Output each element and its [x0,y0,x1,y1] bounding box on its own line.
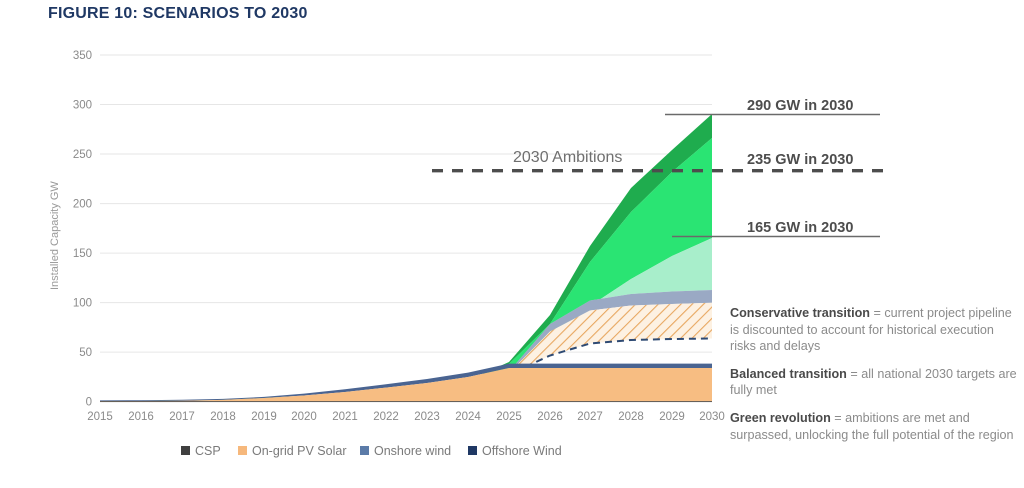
y-tick-250: 250 [73,149,92,161]
x-tick-2016: 2016 [128,411,154,423]
note-eq-conservative: = [870,306,884,320]
x-tick-2015: 2015 [87,411,113,423]
y-axis-ticks: 350 300 250 200 150 100 50 0 [73,50,92,409]
legend-label-csp: CSP [195,444,221,458]
x-tick-2021: 2021 [332,411,358,423]
x-tick-2027: 2027 [577,411,603,423]
y-tick-200: 200 [73,199,92,211]
legend-swatch-csp [181,446,190,455]
legend-swatch-on-grid-pv-solar [238,446,247,455]
area-balanced-transition [100,138,712,402]
y-tick-50: 50 [79,347,92,359]
legend-label-onshore-wind: Onshore wind [374,444,451,458]
note-term-green: Green revolution [730,411,831,425]
x-tick-2020: 2020 [291,411,317,423]
note-term-conservative: Conservative transition [730,306,870,320]
y-tick-100: 100 [73,298,92,310]
x-tick-2024: 2024 [455,411,481,423]
x-tick-2022: 2022 [373,411,399,423]
callout-green-revolution: 290 GW in 2030 [747,98,853,114]
legend-label-offshore-wind: Offshore Wind [482,444,562,458]
legend-swatch-offshore-wind [468,446,477,455]
note-term-balanced: Balanced transition [730,367,847,381]
x-tick-2030: 2030 [699,411,725,423]
x-tick-2018: 2018 [210,411,236,423]
legend-swatch-onshore-wind [360,446,369,455]
note-eq-green: = [831,411,845,425]
note-eq-balanced: = [847,367,861,381]
y-tick-350: 350 [73,50,92,62]
note-balanced-transition: Balanced transition = all national 2030 … [730,366,1022,399]
y-axis-title: Installed Capacity GW [49,181,61,290]
callout-balanced: 235 GW in 2030 [747,152,853,168]
x-tick-2028: 2028 [618,411,644,423]
y-tick-300: 300 [73,100,92,112]
note-conservative-transition: Conservative transition = current projec… [730,305,1022,355]
y-tick-0: 0 [86,397,92,409]
chart-legend: CSP On-grid PV Solar Onshore wind Offsho… [181,444,562,458]
callout-conservative: 165 GW in 2030 [747,220,853,236]
x-tick-2026: 2026 [537,411,563,423]
x-tick-2029: 2029 [659,411,685,423]
scenario-definitions: Conservative transition = current projec… [730,305,1022,443]
x-axis-ticks: 2015 2016 2017 2018 2019 2020 2021 2022 … [87,411,725,423]
y-tick-150: 150 [73,248,92,260]
x-tick-2023: 2023 [414,411,440,423]
ambitions-line-label: 2030 Ambitions [513,149,622,166]
area-csp [100,401,712,402]
x-tick-2017: 2017 [169,411,195,423]
x-tick-2025: 2025 [496,411,522,423]
legend-label-on-grid-pv-solar: On-grid PV Solar [252,444,346,458]
x-tick-2019: 2019 [251,411,277,423]
note-green-revolution: Green revolution = ambitions are met and… [730,410,1022,443]
